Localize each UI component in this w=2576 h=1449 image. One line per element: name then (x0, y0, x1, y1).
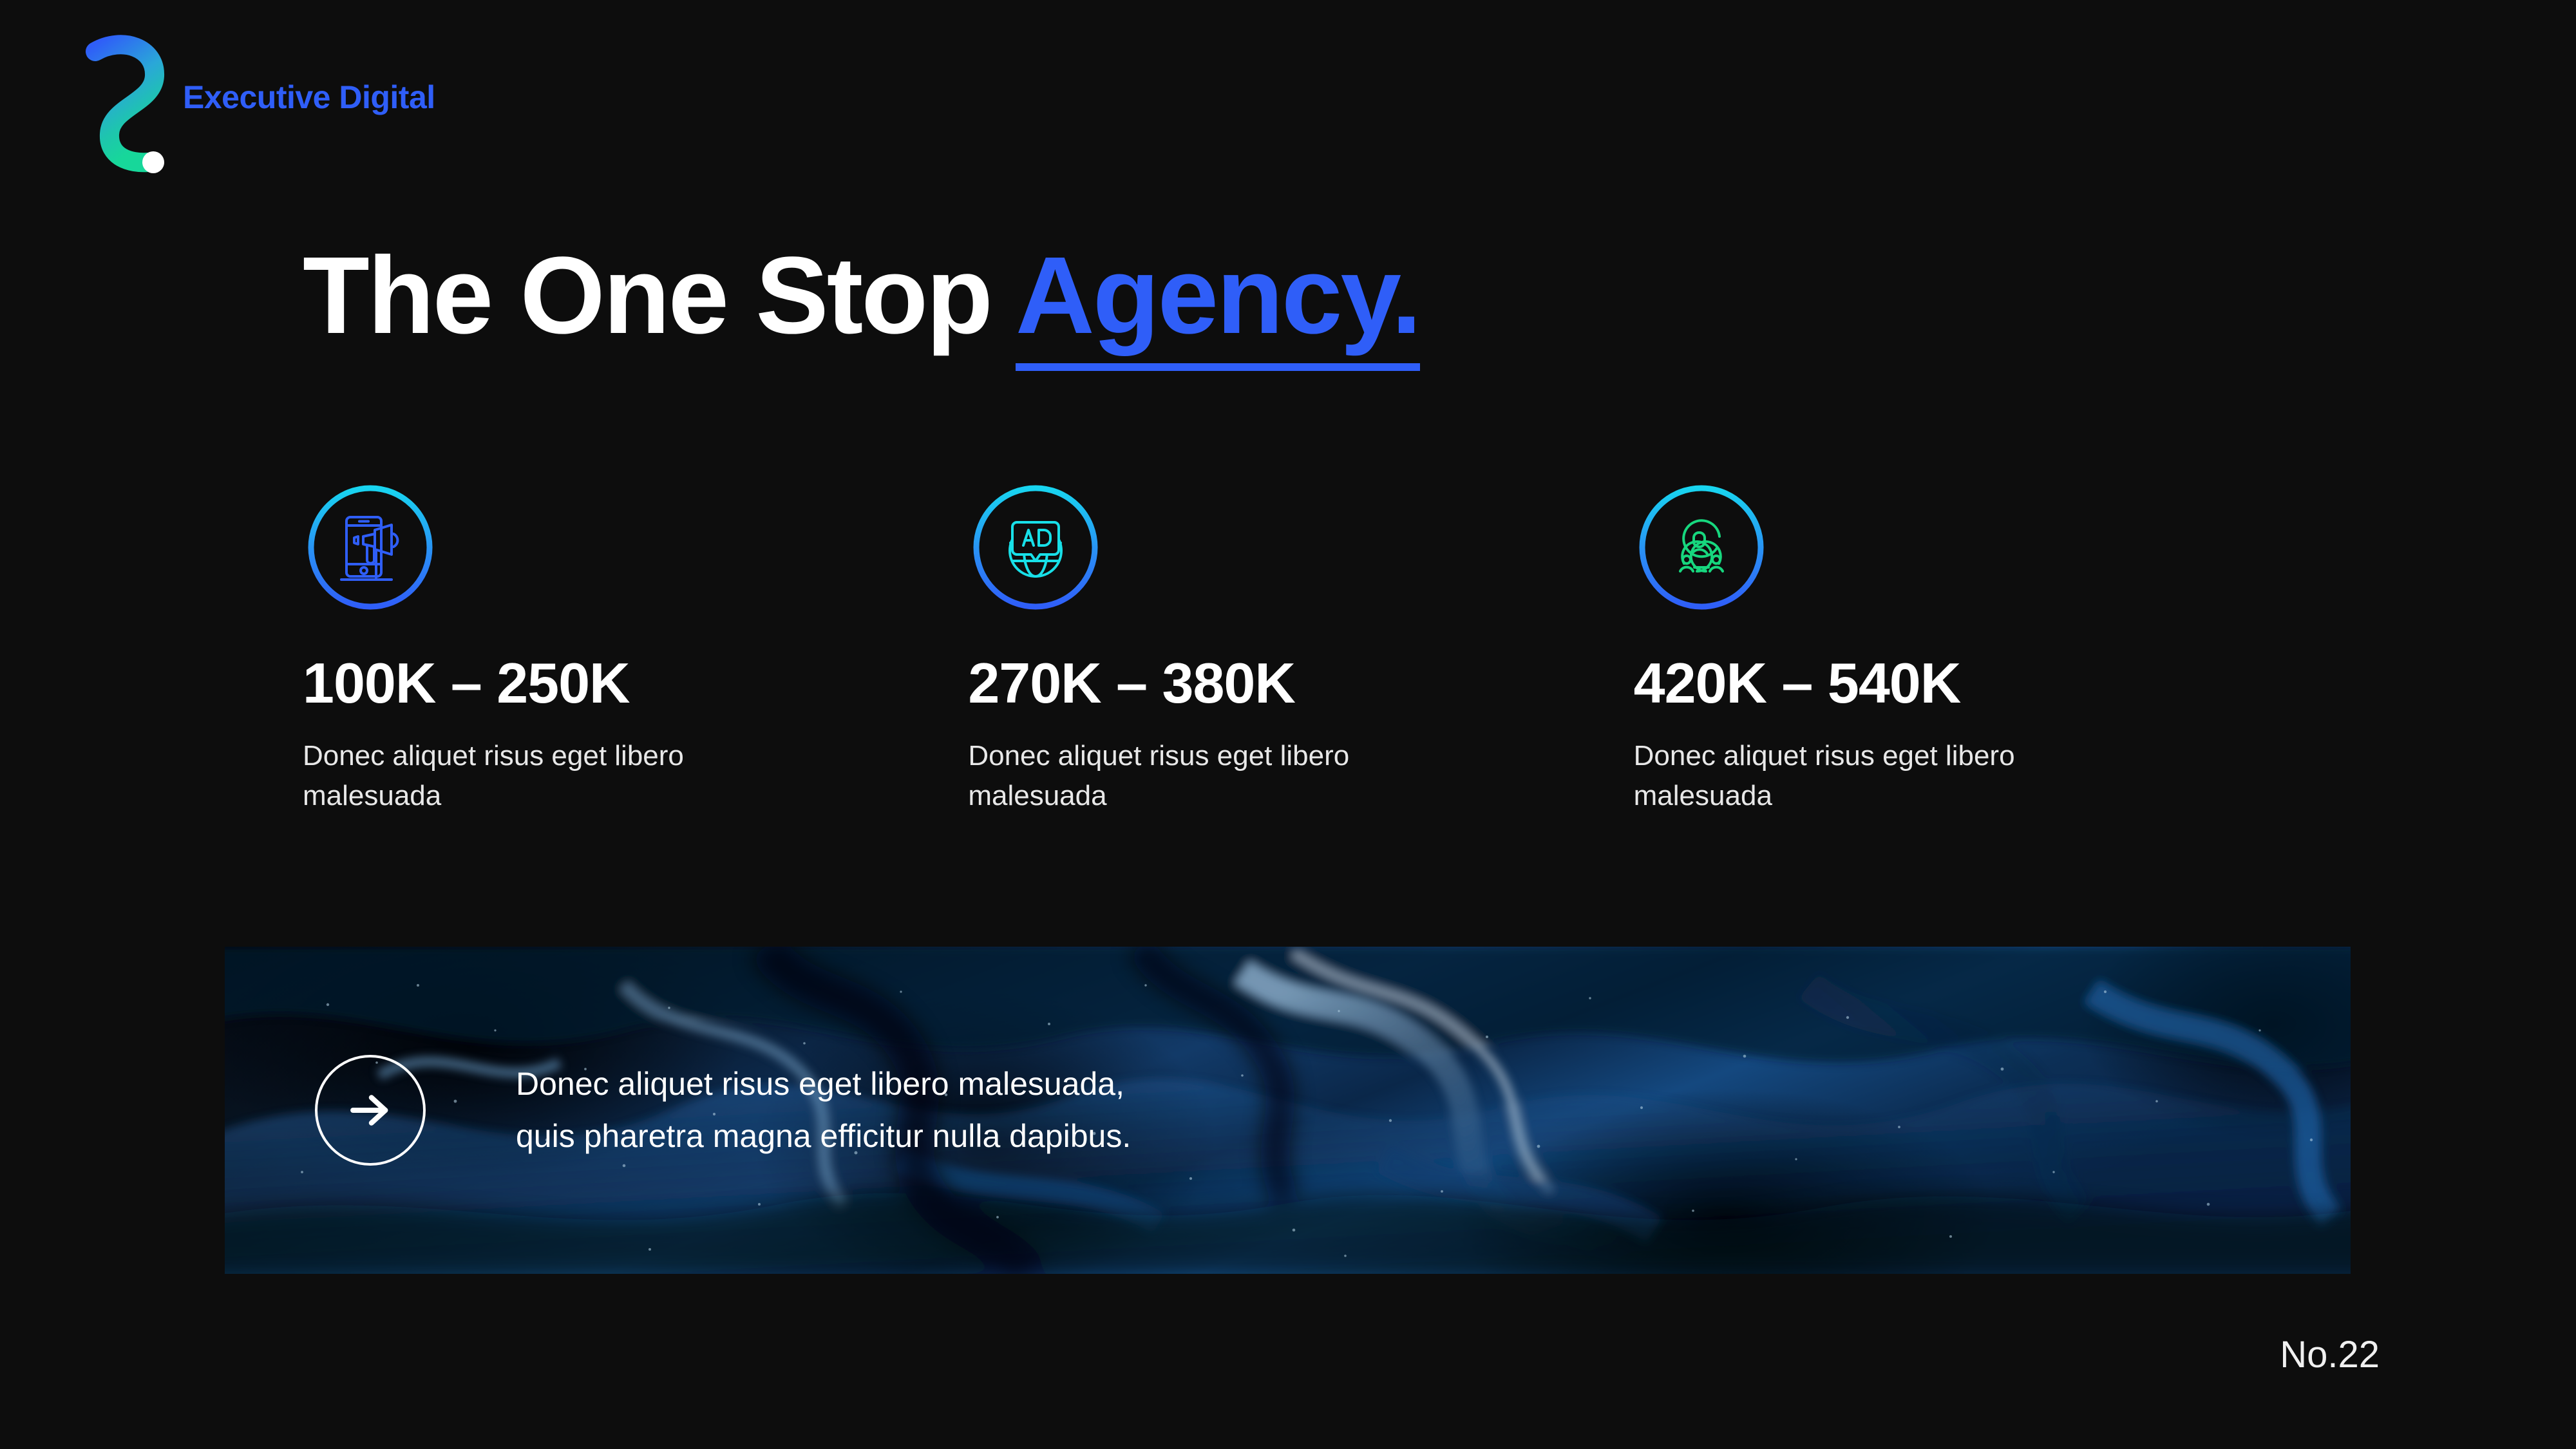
brand-name: Executive Digital (183, 79, 435, 116)
stat-card: 270K – 380K Donec aliquet risus eget lib… (968, 480, 1633, 817)
stat-card: 100K – 250K Donec aliquet risus eget lib… (303, 480, 968, 817)
stat-icon-badge (303, 480, 438, 615)
globe-ad-icon (968, 480, 1103, 615)
stat-value: 270K – 380K (968, 655, 1633, 712)
banner-text: Donec aliquet risus eget libero malesuad… (516, 1058, 1131, 1162)
s-curve-logo-icon (77, 31, 174, 179)
headline-accent: Agency. (1016, 234, 1420, 371)
arrow-right-icon (343, 1083, 398, 1138)
stat-description: Donec aliquet risus eget libero malesuad… (1634, 736, 2123, 817)
mobile-megaphone-icon (303, 480, 438, 615)
cta-banner[interactable]: Donec aliquet risus eget libero malesuad… (225, 947, 2351, 1274)
slide: Executive Digital The One Stop Agency. (0, 0, 2576, 1449)
stat-value: 420K – 540K (1634, 655, 2299, 712)
banner-content: Donec aliquet risus eget libero malesuad… (225, 947, 2351, 1274)
stat-value: 100K – 250K (303, 655, 968, 712)
headline-plain: The One Stop (303, 234, 1016, 357)
stat-icon-badge (968, 480, 1103, 615)
stat-card: 420K – 540K Donec aliquet risus eget lib… (1634, 480, 2299, 817)
page-title: The One Stop Agency. (303, 238, 1420, 354)
page-number: No.22 (2280, 1333, 2380, 1376)
brand-logo[interactable]: Executive Digital (77, 31, 435, 179)
stat-description: Donec aliquet risus eget libero malesuad… (303, 736, 792, 817)
stat-description: Donec aliquet risus eget libero malesuad… (968, 736, 1457, 817)
stat-icon-badge (1634, 480, 1769, 615)
stats-row: 100K – 250K Donec aliquet risus eget lib… (303, 480, 2299, 817)
banner-arrow-button[interactable] (315, 1055, 426, 1166)
people-network-icon (1634, 480, 1769, 615)
